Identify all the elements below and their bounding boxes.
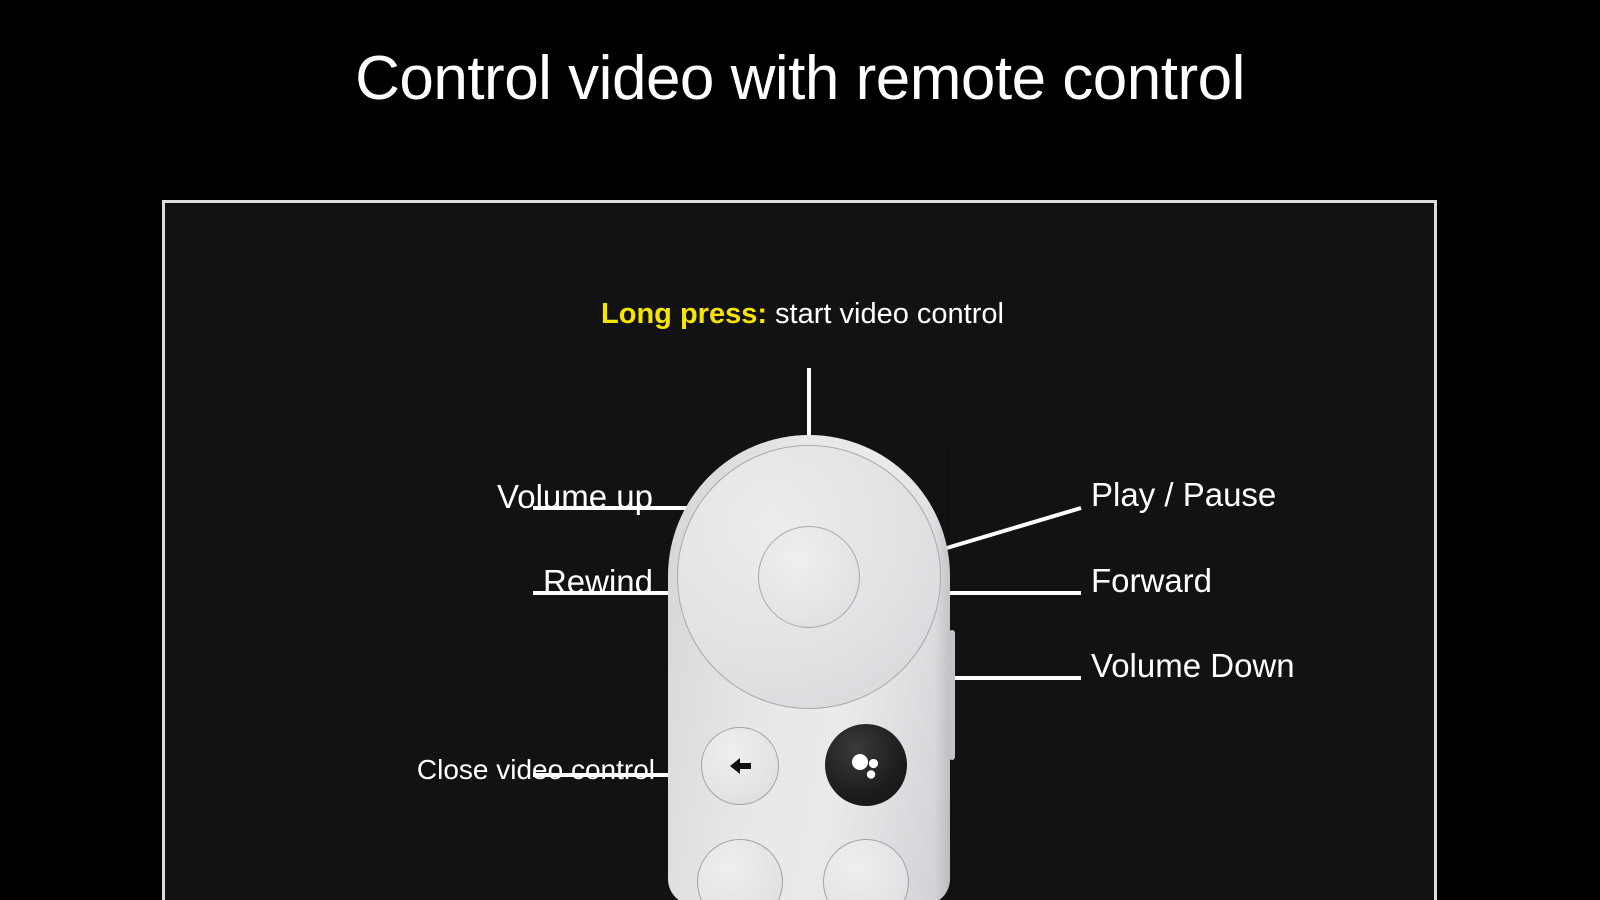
back-button[interactable]: [701, 727, 779, 805]
home-button[interactable]: [697, 839, 783, 900]
back-arrow-icon: [723, 749, 757, 783]
remote-control-body: [668, 435, 950, 900]
slide-canvas: Control video with remote control Long p…: [0, 0, 1600, 900]
side-volume-rocker[interactable]: [949, 630, 955, 760]
callout-close-video-control: Close video control: [195, 756, 655, 784]
google-assistant-button[interactable]: [825, 724, 907, 806]
remote-edge-shading: [934, 435, 950, 900]
callout-volume-down: Volume Down: [1091, 649, 1295, 682]
input-button[interactable]: [823, 839, 909, 900]
callout-forward: Forward: [1091, 564, 1212, 597]
long-press-note: Long press: start video control: [165, 300, 1437, 329]
page-title: Control video with remote control: [0, 48, 1600, 110]
callout-volume-up: Volume up: [313, 480, 653, 513]
assistant-dots-icon: [846, 745, 886, 785]
select-button[interactable]: [758, 526, 860, 628]
long-press-description: start video control: [767, 298, 1004, 330]
callout-rewind: Rewind: [313, 565, 653, 598]
diagram-frame: Long press: start video control: [162, 200, 1437, 900]
dpad-ring[interactable]: [677, 445, 941, 709]
callout-play-pause: Play / Pause: [1091, 478, 1276, 511]
long-press-label: Long press:: [601, 298, 767, 330]
